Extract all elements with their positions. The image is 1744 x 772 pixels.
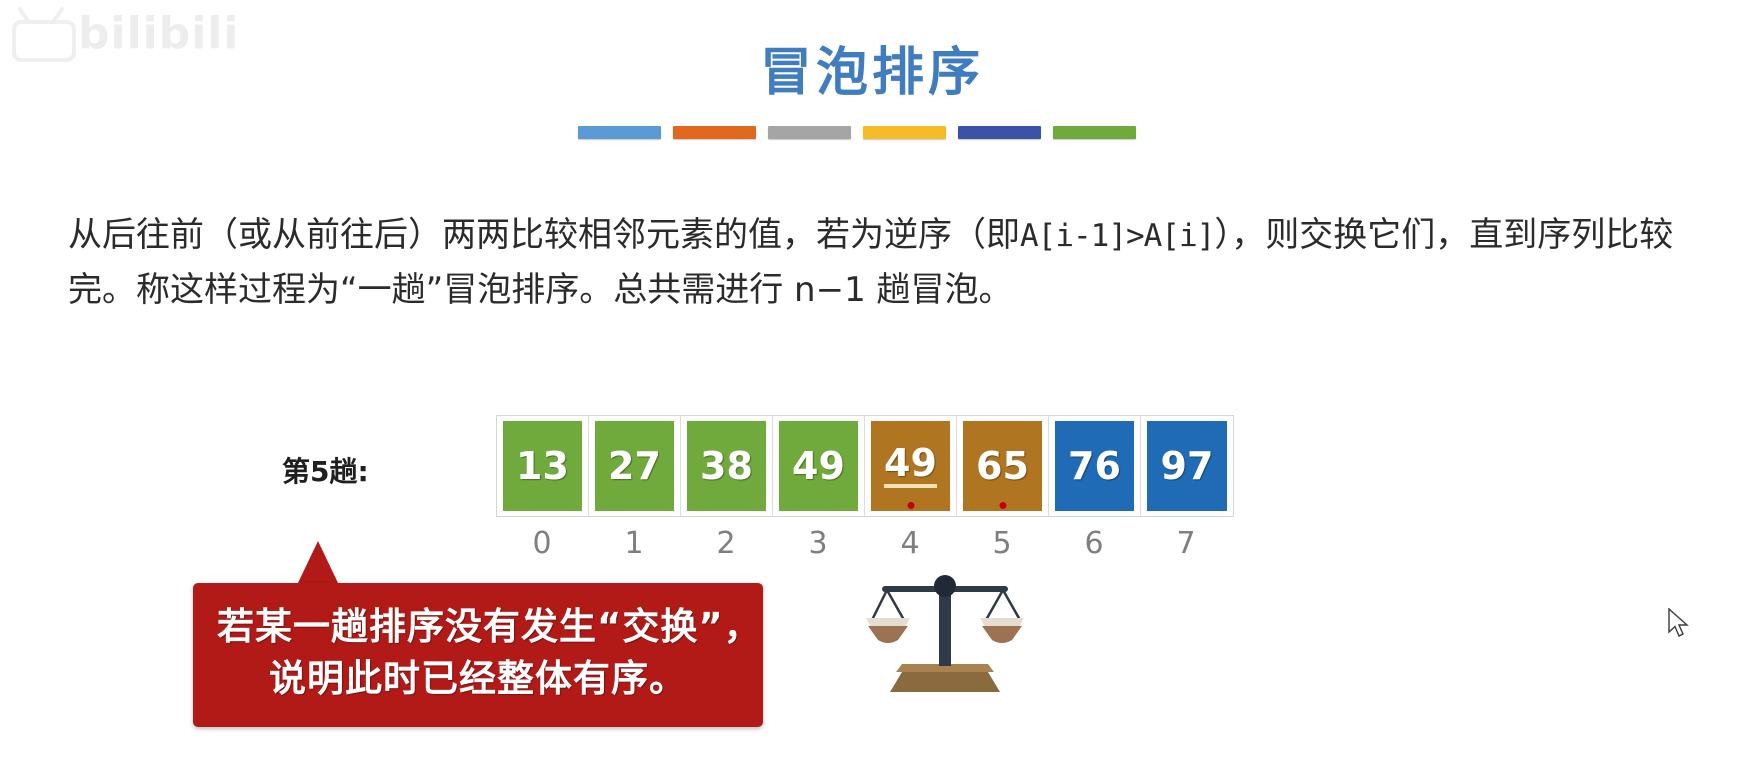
array-index-label: 5 [956, 526, 1048, 561]
array-index-label: 7 [1140, 526, 1232, 561]
page-title: 冒泡排序 [0, 30, 1744, 105]
body-text-part1: 从后往前（或从前往后）两两比较相邻元素的值，若为逆序（即 [68, 215, 1020, 255]
callout-pointer-icon [297, 541, 339, 585]
array-cell-value: 97 [1161, 447, 1214, 485]
accent-bar-orange [673, 126, 756, 139]
array-cell-chip: 76 [1055, 421, 1134, 511]
array-cell: 27 [589, 416, 681, 516]
array-cell: 13 [497, 416, 589, 516]
array-cell-value: 27 [608, 447, 661, 485]
array-cell-chip: 49 [871, 421, 950, 511]
callout-line-2: 说明此时已经整体有序。 [217, 653, 739, 705]
array-cell-chip: 65 [963, 421, 1042, 511]
array-cell-value: 38 [700, 447, 753, 485]
mouse-pointer-icon [1668, 608, 1690, 645]
body-text-code: A[i-1]>A[i] [1020, 218, 1214, 254]
callout-note: 若某一趟排序没有发生“交换”， 说明此时已经整体有序。 [193, 583, 763, 727]
array-cell-value: 76 [1068, 447, 1121, 485]
balance-scale-icon [860, 560, 1030, 700]
array-index-label: 3 [772, 526, 864, 561]
accent-bar-green [1053, 126, 1136, 139]
array-cell-value: 49 [884, 444, 937, 488]
array-index-label: 4 [864, 526, 956, 561]
array-visualization: 1327384949657697 01234567 [496, 415, 1234, 561]
array-cell: 65 [957, 416, 1049, 516]
array-cell-chip: 13 [503, 421, 582, 511]
callout-line-1: 若某一趟排序没有发生“交换”， [217, 601, 739, 653]
array-cell: 97 [1141, 416, 1233, 516]
array-cell-chip: 49 [779, 421, 858, 511]
callout-bubble: 若某一趟排序没有发生“交换”， 说明此时已经整体有序。 [193, 583, 763, 727]
array-cell: 49 [865, 416, 957, 516]
array-index-label: 0 [496, 526, 588, 561]
accent-bar-gray [768, 126, 851, 139]
pass-label: 第5趟: [282, 450, 369, 490]
array-cell-marker-dot [999, 502, 1006, 509]
array-index-label: 1 [588, 526, 680, 561]
accent-bar-dark-blue [958, 126, 1041, 139]
array-index-row: 01234567 [496, 526, 1234, 561]
body-paragraph: 从后往前（或从前往后）两两比较相邻元素的值，若为逆序（即A[i-1]>A[i]）… [68, 208, 1698, 317]
array-index-label: 6 [1048, 526, 1140, 561]
array-cell-chip: 38 [687, 421, 766, 511]
array-cell-value: 49 [792, 447, 845, 485]
array-index-label: 2 [680, 526, 772, 561]
array-cell-chip: 97 [1147, 421, 1227, 511]
bilibili-ear-right-icon [51, 6, 65, 23]
array-cell-value: 13 [516, 447, 569, 485]
accent-bar-blue [578, 126, 661, 139]
array-cell-marker-dot [907, 502, 914, 509]
slide-canvas: bilibili 冒泡排序 从后往前（或从前往后）两两比较相邻元素的值，若为逆序… [0, 0, 1744, 772]
array-cell-value: 65 [976, 447, 1029, 485]
bilibili-ear-left-icon [17, 6, 31, 23]
array-cell-row: 1327384949657697 [496, 415, 1234, 517]
array-cell: 38 [681, 416, 773, 516]
accent-bar-row [578, 126, 1136, 139]
array-cell: 49 [773, 416, 865, 516]
accent-bar-yellow [863, 126, 946, 139]
array-cell: 76 [1049, 416, 1141, 516]
array-cell-chip: 27 [595, 421, 674, 511]
